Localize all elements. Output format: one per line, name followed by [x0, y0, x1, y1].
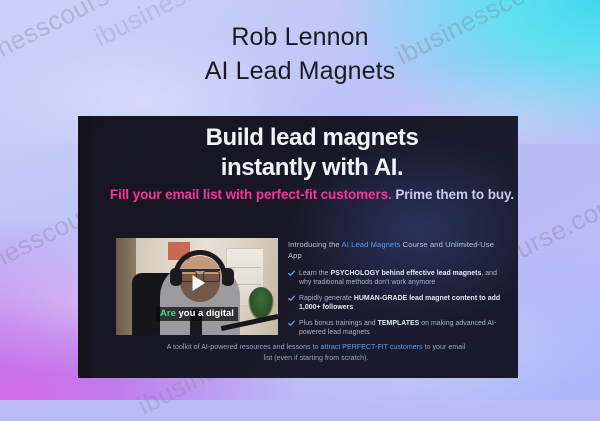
check-icon — [288, 320, 295, 327]
headphone-earcup-left — [170, 268, 182, 286]
panel-footer: A toolkit of AI-powered resources and le… — [166, 343, 466, 364]
panel-body: Are you a digital Introducing the AI Lea… — [116, 238, 508, 343]
sales-subheadline: Fill your email list with perfect-fit cu… — [106, 186, 518, 204]
bullet-lead: Plus bonus trainings and — [299, 320, 378, 327]
offer-column: Introducing the AI Lead Magnets Course a… — [288, 238, 508, 343]
bullet-lead: Learn the — [299, 270, 331, 277]
subheadline-pink: Fill your email list with perfect-fit cu… — [110, 187, 392, 202]
video-caption-highlight: Are — [160, 308, 176, 319]
sales-page-screenshot: Build lead magnets instantly with AI. Fi… — [78, 116, 518, 378]
page-title: Rob Lennon AI Lead Magnets — [0, 20, 600, 88]
offer-intro-prefix: Introducing the — [288, 240, 342, 249]
check-icon — [288, 295, 295, 302]
play-triangle-icon[interactable] — [182, 268, 212, 298]
video-caption: Are you a digital — [156, 307, 238, 321]
list-item: Learn the PSYCHOLOGY behind effective le… — [288, 269, 508, 288]
list-item: Rapidly generate HUMAN-GRADE lead magnet… — [288, 294, 508, 313]
headline-line1: Build lead magnets — [206, 124, 419, 151]
page-title-line1: Rob Lennon — [231, 23, 368, 51]
subheadline-lilac: Prime them to buy. — [395, 187, 514, 202]
list-item-text: Learn the PSYCHOLOGY behind effective le… — [299, 269, 508, 288]
headphone-earcup-right — [222, 268, 234, 286]
bullet-strong: TEMPLATES — [378, 320, 420, 327]
footer-link: attract PERFECT-FIT customers — [321, 344, 423, 351]
check-icon — [288, 270, 295, 277]
video-caption-rest: you a digital — [179, 308, 234, 319]
bullet-strong: PSYCHOLOGY behind effective lead magnets — [331, 270, 482, 277]
sales-headline: Build lead magnets instantly with AI. — [106, 123, 518, 183]
headline-line2: instantly with AI. — [106, 153, 518, 183]
page-title-line2: AI Lead Magnets — [0, 54, 600, 88]
offer-intro-brand: AI Lead Magnets — [342, 240, 401, 249]
list-item-text: Plus bonus trainings and TEMPLATES on ma… — [299, 319, 508, 338]
sales-page-inner: Build lead magnets instantly with AI. Fi… — [92, 116, 518, 378]
list-item-text: Rapidly generate HUMAN-GRADE lead magnet… — [299, 294, 508, 313]
list-item: Plus bonus trainings and TEMPLATES on ma… — [288, 319, 508, 338]
offer-intro: Introducing the AI Lead Magnets Course a… — [288, 240, 508, 261]
video-thumbnail[interactable]: Are you a digital — [116, 238, 278, 335]
footer-prefix: A toolkit of AI-powered resources and le… — [167, 344, 321, 351]
bullet-lead: Rapidly generate — [299, 295, 354, 302]
